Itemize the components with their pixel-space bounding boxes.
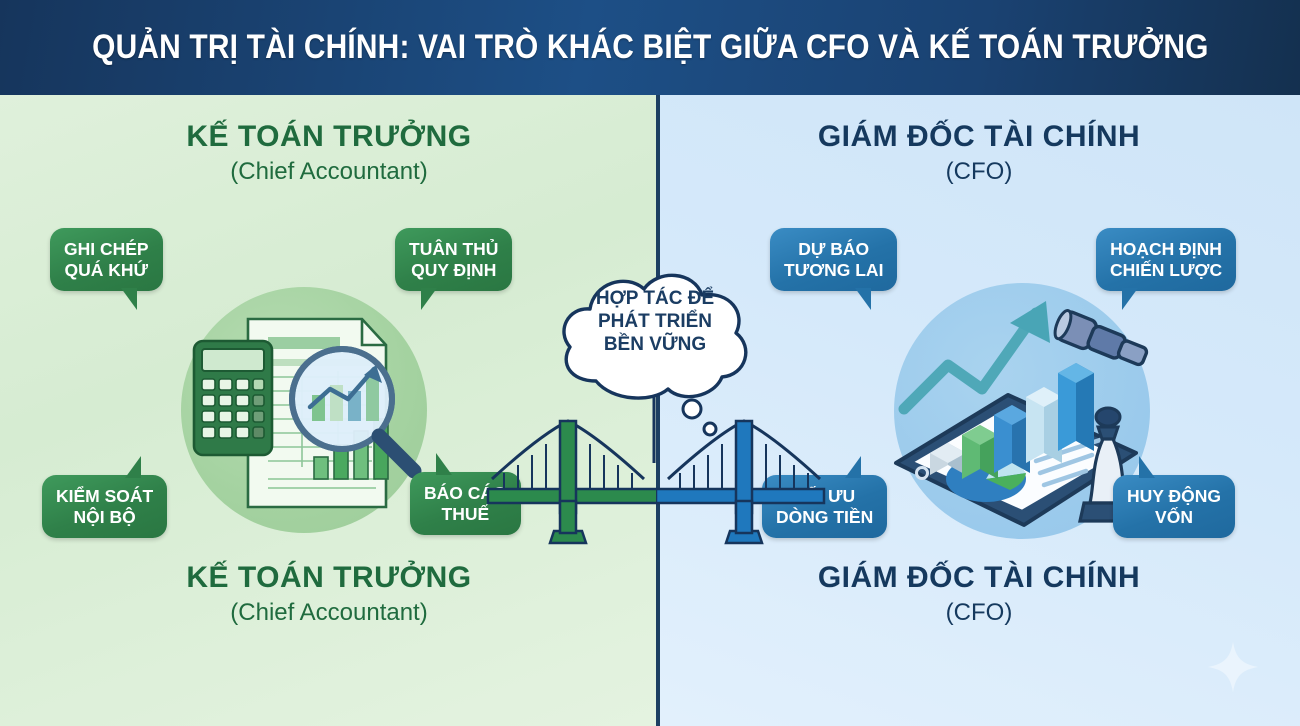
badge-huy-dong-von[interactable]: HUY ĐỘNG VỐN [1113, 475, 1235, 538]
sparkle-decoration [1206, 640, 1260, 694]
right-pane-subtitle: (CFO) [658, 158, 1300, 186]
badge-line-2: VỐN [1127, 507, 1221, 528]
badge-line-1: HOẠCH ĐỊNH [1110, 239, 1222, 260]
left-pane-heading: KẾ TOÁN TRƯỞNG (Chief Accountant) [0, 120, 658, 186]
badge-line-1: GHI CHÉP [64, 239, 149, 260]
left-pane-title: KẾ TOÁN TRƯỞNG [0, 120, 658, 154]
page-title: QUẢN TRỊ TÀI CHÍNH: VAI TRÒ KHÁC BIỆT GI… [92, 28, 1208, 67]
right-pane-footer-heading: GIÁM ĐỐC TÀI CHÍNH (CFO) [658, 561, 1300, 627]
badge-line-1: HUY ĐỘNG [1127, 486, 1221, 507]
growth-arrow-icon [904, 301, 1050, 409]
header-banner: QUẢN TRỊ TÀI CHÍNH: VAI TRÒ KHÁC BIỆT GI… [0, 0, 1300, 95]
thought-cloud-bubble [542, 263, 766, 463]
badge-line-2: TƯƠNG LAI [784, 260, 883, 281]
right-pane-title: GIÁM ĐỐC TÀI CHÍNH [658, 120, 1300, 154]
left-pane-footer-subtitle: (Chief Accountant) [0, 599, 658, 627]
accounting-illustration [190, 291, 430, 531]
badge-line-1: KIỂM SOÁT [56, 486, 153, 507]
badge-tail [436, 453, 452, 475]
badge-line-1: DỰ BÁO [784, 239, 883, 260]
badge-line-2: CHIẾN LƯỢC [1110, 260, 1222, 281]
badge-ghi-chep-qua-khu[interactable]: GHI CHÉP QUÁ KHỨ [50, 228, 163, 291]
badge-line-2: QUÁ KHỨ [64, 260, 149, 281]
badge-du-bao-tuong-lai[interactable]: DỰ BÁO TƯƠNG LAI [770, 228, 897, 291]
badge-line-2: NỘI BỘ [56, 507, 153, 528]
right-pane-footer-title: GIÁM ĐỐC TÀI CHÍNH [658, 561, 1300, 595]
badge-tail [855, 288, 871, 310]
infographic-canvas: QUẢN TRỊ TÀI CHÍNH: VAI TRÒ KHÁC BIỆT GI… [0, 0, 1300, 726]
badge-tail [845, 456, 861, 478]
right-pane-footer-subtitle: (CFO) [658, 599, 1300, 627]
left-pane-footer-heading: KẾ TOÁN TRƯỞNG (Chief Accountant) [0, 561, 658, 627]
badge-tail [125, 456, 141, 478]
badge-kiem-soat-noi-bo[interactable]: KIỂM SOÁT NỘI BỘ [42, 475, 167, 538]
badge-tuan-thu-quy-dinh[interactable]: TUÂN THỦ QUY ĐỊNH [395, 228, 512, 291]
left-pane-subtitle: (Chief Accountant) [0, 158, 658, 186]
badge-hoach-dinh-chien-luoc[interactable]: HOẠCH ĐỊNH CHIẾN LƯỢC [1096, 228, 1236, 291]
badge-tail [1139, 456, 1155, 478]
content-area: KẾ TOÁN TRƯỞNG (Chief Accountant) [0, 95, 1300, 726]
badge-line-1: TUÂN THỦ [409, 239, 498, 260]
right-pane-heading: GIÁM ĐỐC TÀI CHÍNH (CFO) [658, 120, 1300, 186]
calculator-icon [194, 341, 272, 455]
badge-line-2: QUY ĐỊNH [409, 260, 498, 281]
badge-tail [1122, 288, 1138, 310]
telescope-icon [1052, 308, 1150, 371]
left-pane-footer-title: KẾ TOÁN TRƯỞNG [0, 561, 658, 595]
badge-tail [421, 288, 437, 310]
badge-tail [121, 288, 137, 310]
